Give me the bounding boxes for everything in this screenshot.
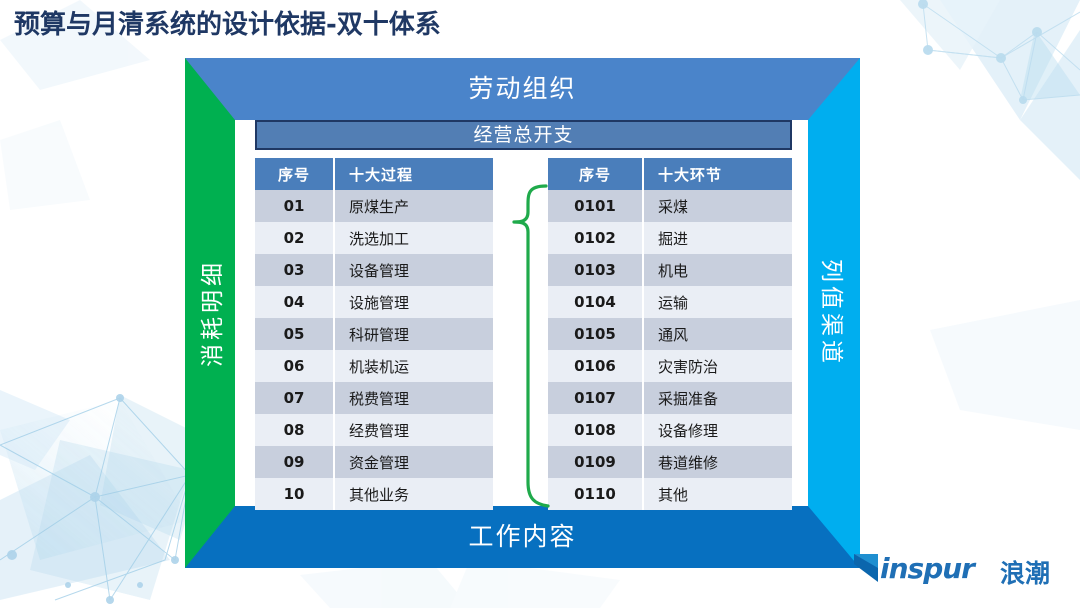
bottom-banner-label: 工作内容 bbox=[185, 506, 860, 568]
table-row: 08经费管理 bbox=[255, 414, 493, 446]
left-side-label-text: 消耗明细 bbox=[193, 259, 227, 367]
row-name: 资金管理 bbox=[334, 446, 493, 478]
row-no: 0110 bbox=[548, 478, 643, 510]
row-name: 采煤 bbox=[643, 190, 792, 222]
green-brace-icon bbox=[494, 182, 554, 512]
right-side-label-text: 列值渠道 bbox=[817, 259, 851, 367]
double-ten-diagram: 劳动组织 工作内容 消耗明细 列值渠道 经营总开支 序号 十大过程 01原煤生产… bbox=[0, 0, 1080, 608]
column-header-no: 序号 bbox=[548, 158, 643, 190]
row-name: 机电 bbox=[643, 254, 792, 286]
table-row: 0107采掘准备 bbox=[548, 382, 792, 414]
column-header-no: 序号 bbox=[255, 158, 334, 190]
table-row: 0110其他 bbox=[548, 478, 792, 510]
slide-canvas: 预算与月清系统的设计依据-双十体系 劳动组织 工作内容 消耗明细 列值渠道 经营… bbox=[0, 0, 1080, 608]
table-row: 05科研管理 bbox=[255, 318, 493, 350]
row-no: 0104 bbox=[548, 286, 643, 318]
table-row: 0109巷道维修 bbox=[548, 446, 792, 478]
left-side-label: 消耗明细 bbox=[185, 58, 235, 568]
table-row: 10其他业务 bbox=[255, 478, 493, 510]
right-side-label: 列值渠道 bbox=[808, 58, 860, 568]
ten-processes-table: 序号 十大过程 01原煤生产02洗选加工03设备管理04设施管理05科研管理06… bbox=[255, 158, 493, 510]
table-row: 09资金管理 bbox=[255, 446, 493, 478]
table-header-row: 序号 十大环节 bbox=[548, 158, 792, 190]
row-no: 0103 bbox=[548, 254, 643, 286]
row-name: 掘进 bbox=[643, 222, 792, 254]
ten-links-table: 序号 十大环节 0101采煤0102掘进0103机电0104运输0105通风01… bbox=[548, 158, 792, 510]
row-name: 税费管理 bbox=[334, 382, 493, 414]
table-row: 07税费管理 bbox=[255, 382, 493, 414]
table-row: 0105通风 bbox=[548, 318, 792, 350]
inspur-logo: inspur 浪潮 bbox=[852, 552, 1067, 594]
table-header-row: 序号 十大过程 bbox=[255, 158, 493, 190]
row-name: 机装机运 bbox=[334, 350, 493, 382]
row-no: 05 bbox=[255, 318, 334, 350]
row-no: 0105 bbox=[548, 318, 643, 350]
row-no: 01 bbox=[255, 190, 334, 222]
row-no: 0102 bbox=[548, 222, 643, 254]
table-row: 0108设备修理 bbox=[548, 414, 792, 446]
row-no: 06 bbox=[255, 350, 334, 382]
row-name: 其他 bbox=[643, 478, 792, 510]
table-row: 0103机电 bbox=[548, 254, 792, 286]
row-name: 巷道维修 bbox=[643, 446, 792, 478]
row-no: 04 bbox=[255, 286, 334, 318]
table-row: 04设施管理 bbox=[255, 286, 493, 318]
row-name: 其他业务 bbox=[334, 478, 493, 510]
row-name: 通风 bbox=[643, 318, 792, 350]
section-header: 经营总开支 bbox=[255, 120, 792, 150]
table-row: 0104运输 bbox=[548, 286, 792, 318]
top-banner-label: 劳动组织 bbox=[185, 58, 860, 120]
row-no: 08 bbox=[255, 414, 334, 446]
column-header-name: 十大环节 bbox=[643, 158, 792, 190]
row-name: 采掘准备 bbox=[643, 382, 792, 414]
row-name: 原煤生产 bbox=[334, 190, 493, 222]
row-no: 0107 bbox=[548, 382, 643, 414]
row-no: 0109 bbox=[548, 446, 643, 478]
column-header-name: 十大过程 bbox=[334, 158, 493, 190]
table-row: 0101采煤 bbox=[548, 190, 792, 222]
table-row: 01原煤生产 bbox=[255, 190, 493, 222]
row-no: 0108 bbox=[548, 414, 643, 446]
row-no: 09 bbox=[255, 446, 334, 478]
table-row: 0106灾害防治 bbox=[548, 350, 792, 382]
row-name: 设备管理 bbox=[334, 254, 493, 286]
row-name: 科研管理 bbox=[334, 318, 493, 350]
table-row: 02洗选加工 bbox=[255, 222, 493, 254]
row-name: 灾害防治 bbox=[643, 350, 792, 382]
row-name: 运输 bbox=[643, 286, 792, 318]
row-no: 02 bbox=[255, 222, 334, 254]
logo-chinese-text: 浪潮 bbox=[1000, 554, 1050, 590]
table-row: 0102掘进 bbox=[548, 222, 792, 254]
row-name: 设施管理 bbox=[334, 286, 493, 318]
row-no: 0101 bbox=[548, 190, 643, 222]
row-no: 0106 bbox=[548, 350, 643, 382]
row-name: 经费管理 bbox=[334, 414, 493, 446]
row-no: 07 bbox=[255, 382, 334, 414]
table-row: 03设备管理 bbox=[255, 254, 493, 286]
row-no: 10 bbox=[255, 478, 334, 510]
table-row: 06机装机运 bbox=[255, 350, 493, 382]
logo-latin-text: inspur bbox=[880, 552, 974, 585]
row-no: 03 bbox=[255, 254, 334, 286]
row-name: 设备修理 bbox=[643, 414, 792, 446]
row-name: 洗选加工 bbox=[334, 222, 493, 254]
